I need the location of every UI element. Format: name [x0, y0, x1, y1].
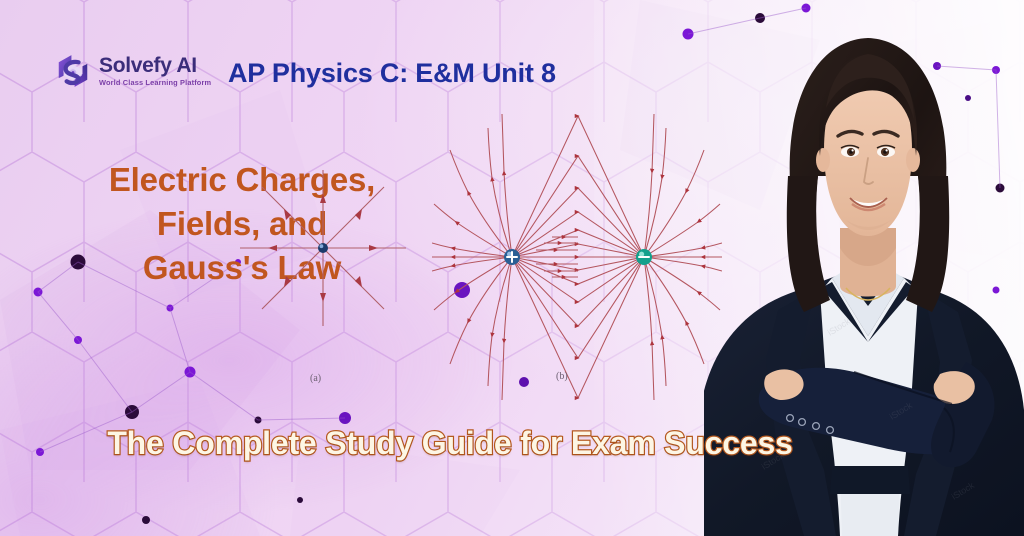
unit-title: AP Physics C: E&M Unit 8 [228, 58, 556, 89]
poster-canvas: Solvefy AI World Class Learning Platform… [0, 0, 1024, 536]
figure-a-label: (a) [310, 373, 321, 384]
figure-a-radial-field-diagram [238, 168, 408, 328]
hexagon-s-logo-icon [54, 52, 92, 90]
brand-logo[interactable]: Solvefy AI World Class Learning Platform [54, 52, 211, 90]
figure-b-label: (b) [556, 371, 568, 382]
brand-name: Solvefy AI [99, 55, 211, 76]
figure-b-dipole-field-diagram [432, 112, 722, 402]
brand-tagline: World Class Learning Platform [99, 79, 211, 86]
subtitle-banner: The Complete Study Guide for Exam Succes… [0, 426, 900, 461]
